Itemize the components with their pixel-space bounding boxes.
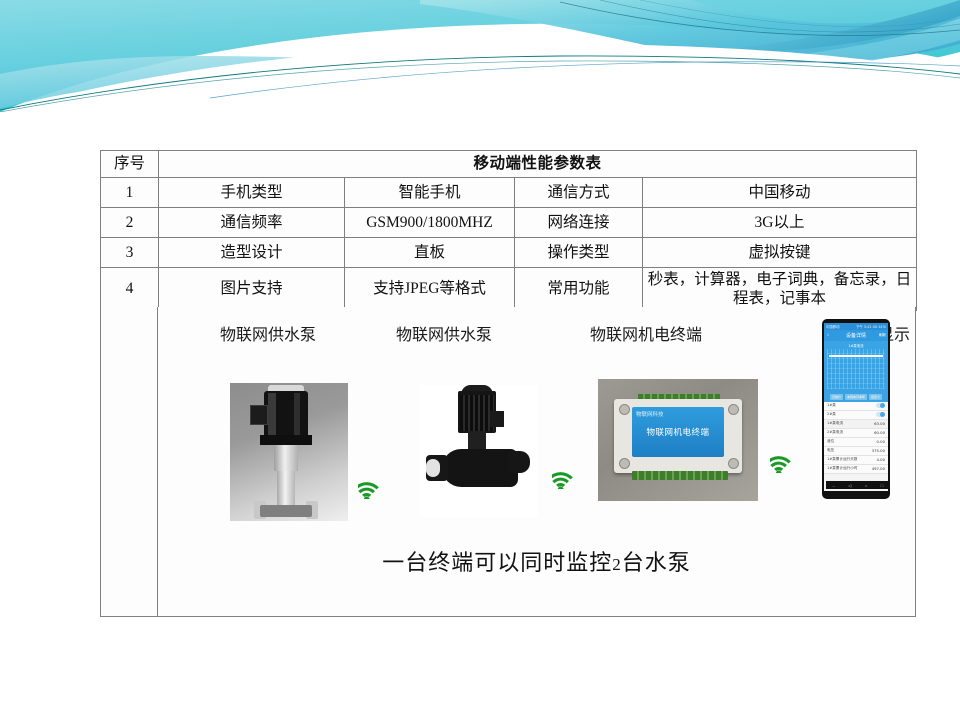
pump2-junction-box	[490, 411, 504, 427]
terminal-screw	[619, 458, 630, 469]
terminal-bottom-connector	[632, 471, 728, 480]
chip-custom[interactable]: 自定义	[869, 394, 882, 400]
pump-toggle[interactable]	[876, 412, 885, 417]
row-value-2: 秒表，计算器，电子词典，备忘录，日程表，记事本	[643, 268, 917, 311]
row-value-2: 虚拟按键	[643, 238, 917, 268]
list-item: 1#泵电流 63.00	[824, 420, 888, 429]
table-row: 2 通信频率 GSM900/1800MHZ 网络连接 3G以上	[101, 208, 917, 238]
list-item-value: 4.00	[877, 457, 885, 462]
terminal-screw	[619, 404, 630, 415]
list-item-value: 60.00	[874, 430, 885, 435]
diagram-panel-index-cell	[100, 307, 158, 617]
list-item[interactable]: 2#泵	[824, 411, 888, 420]
phone-chart-section: 1#泵电流	[824, 341, 888, 392]
wifi-icon	[770, 447, 800, 473]
list-item-label: 1#泵电流	[827, 421, 843, 426]
terminal-screw	[728, 404, 739, 415]
pump-vertical-multistage-image	[230, 383, 348, 521]
pump-stage-stack	[277, 471, 295, 507]
row-key-1: 手机类型	[159, 178, 345, 208]
terminal-screw	[728, 458, 739, 469]
pump-inline-image	[420, 385, 538, 517]
list-item-label: 1#泵累计运行小时	[827, 466, 857, 471]
row-key-2: 操作类型	[515, 238, 643, 268]
list-item[interactable]: 1#泵	[824, 402, 888, 411]
list-item-label: 1#泵	[827, 403, 836, 408]
refresh-button[interactable]: 刷新	[879, 333, 886, 338]
pump2-outlet-flange	[508, 451, 530, 473]
row-key-1: 图片支持	[159, 268, 345, 311]
pump-toggle[interactable]	[876, 403, 885, 408]
pump-chamber	[274, 445, 298, 471]
diagram-panel-content: 物联网供水泵 物联网供水泵 物联网机电终端 移动端显示	[158, 307, 916, 617]
diagram-panel: 物联网供水泵 物联网供水泵 物联网机电终端 移动端显示	[100, 307, 916, 617]
list-item: 2#泵电流 60.00	[824, 429, 888, 438]
list-item-label: 液位	[827, 439, 834, 444]
nav-back-icon[interactable]: ◁	[848, 483, 851, 488]
phone-status-bar: 中国移动 下午 3:41 4G 41%	[824, 323, 888, 330]
chart-title: 1#泵电流	[827, 343, 885, 348]
row-number: 1	[101, 178, 159, 208]
chart-range-chips: 日统计 本周本月本年 自定义	[824, 392, 888, 402]
wifi-icon	[552, 463, 582, 489]
row-value-2: 3G以上	[643, 208, 917, 238]
row-value-1: 支持JPEG等格式	[345, 268, 515, 311]
table-title-cell: 移动端性能参数表	[159, 151, 917, 178]
status-indicators: 下午 3:41 4G 41%	[856, 324, 886, 329]
chart-line	[829, 355, 883, 357]
list-item-label: 2#泵	[827, 412, 836, 417]
pump-base	[260, 505, 312, 517]
table-header-row: 序号 移动端性能参数表	[101, 151, 917, 178]
pump-neck	[260, 435, 312, 445]
row-value-1: GSM900/1800MHZ	[345, 208, 515, 238]
back-icon[interactable]: ‹	[827, 332, 829, 338]
device-label-pump-2: 物联网供水泵	[396, 321, 492, 345]
iot-terminal-image: 物联网机电终端 物联网科技	[598, 379, 758, 501]
status-carrier: 中国移动	[826, 324, 840, 329]
pump-junction-box	[250, 405, 268, 425]
list-item: 1#泵累计运行小时 497.00	[824, 465, 888, 474]
wifi-icon	[358, 473, 388, 499]
phone-app-bar: ‹ 设备详情 刷新	[824, 330, 888, 341]
pump2-cooling-fins	[460, 395, 494, 431]
nav-recents-icon[interactable]: □	[881, 483, 883, 488]
chip-day[interactable]: 日统计	[830, 394, 843, 400]
list-item-value: 63.00	[874, 421, 885, 426]
phone-frame: 中国移动 下午 3:41 4G 41% ‹ 设备详情 刷新 1#泵电流	[822, 319, 890, 499]
caption-suffix: 台水泵	[622, 550, 691, 575]
row-key-1: 通信频率	[159, 208, 345, 238]
device-label-pump-1: 物联网供水泵	[220, 321, 316, 345]
pump2-inlet-cover	[426, 459, 440, 477]
list-item: 液位 0.00	[824, 438, 888, 447]
nav-home-icon[interactable]: ○	[865, 483, 867, 488]
table-row: 4 图片支持 支持JPEG等格式 常用功能 秒表，计算器，电子词典，备忘录，日程…	[101, 268, 917, 311]
pump2-volute-body	[442, 449, 518, 487]
app-title: 设备详情	[846, 332, 866, 339]
wave-banner	[0, 0, 960, 112]
row-value-1: 直板	[345, 238, 515, 268]
list-item-label: 2#泵电流	[827, 430, 843, 435]
row-key-1: 造型设计	[159, 238, 345, 268]
terminal-faceplate-text: 物联网机电终端	[646, 426, 709, 438]
row-number: 2	[101, 208, 159, 238]
nav-minimize-icon[interactable]: –	[833, 483, 835, 488]
chip-week-month-year[interactable]: 本周本月本年	[845, 394, 867, 400]
list-item-label: 1#泵累计运行天数	[827, 457, 857, 462]
list-item-value: 375.00	[872, 448, 885, 453]
current-line-chart	[827, 349, 885, 389]
wave-banner-graphic	[0, 0, 960, 112]
row-value-2: 中国移动	[643, 178, 917, 208]
table-row: 3 造型设计 直板 操作类型 虚拟按键	[101, 238, 917, 268]
caption-prefix: 一台终端可以同时监控	[382, 550, 612, 575]
caption-digit: 2	[612, 555, 622, 574]
list-item-label: 电压	[827, 448, 834, 453]
row-key-2: 通信方式	[515, 178, 643, 208]
phone-navigation-bar: – ◁ ○ □	[826, 481, 888, 489]
list-item: 1#泵累计运行天数 4.00	[824, 456, 888, 465]
row-number: 3	[101, 238, 159, 268]
list-item-value: 497.00	[872, 466, 885, 471]
table-row: 1 手机类型 智能手机 通信方式 中国移动	[101, 178, 917, 208]
row-value-1: 智能手机	[345, 178, 515, 208]
phone-screen: 中国移动 下午 3:41 4G 41% ‹ 设备详情 刷新 1#泵电流	[824, 323, 888, 491]
mobile-phone-screenshot: 中国移动 下午 3:41 4G 41% ‹ 设备详情 刷新 1#泵电流	[822, 319, 890, 499]
panel-caption: 一台终端可以同时监控2台水泵	[158, 545, 915, 577]
terminal-logo-text: 物联网科技	[636, 410, 664, 418]
header-cell-no: 序号	[101, 151, 159, 178]
row-number: 4	[101, 268, 159, 311]
pump-motor	[264, 391, 308, 437]
row-key-2: 常用功能	[515, 268, 643, 311]
list-item-value: 0.00	[877, 439, 885, 444]
row-key-2: 网络连接	[515, 208, 643, 238]
device-label-terminal: 物联网机电终端	[590, 321, 702, 345]
list-item: 电压 375.00	[824, 447, 888, 456]
mobile-spec-table: 序号 移动端性能参数表 1 手机类型 智能手机 通信方式 中国移动 2 通信频率…	[100, 150, 917, 311]
